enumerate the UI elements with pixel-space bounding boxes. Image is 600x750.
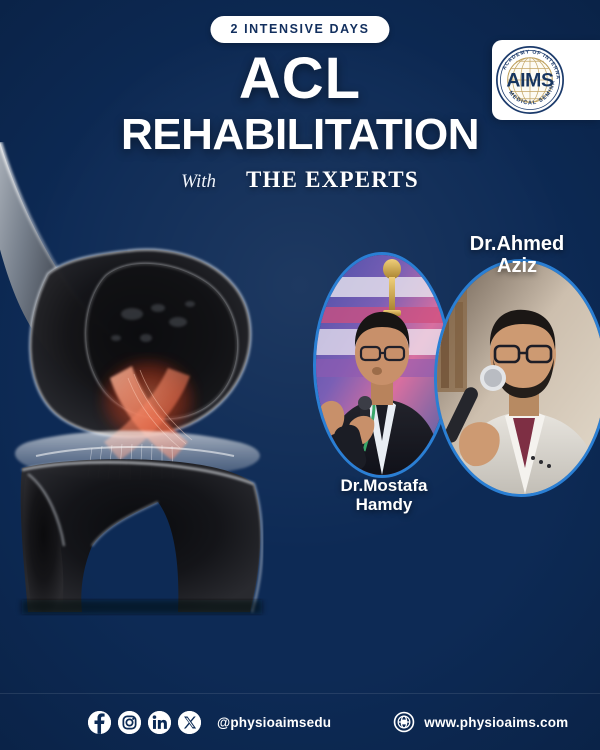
footer-bar: @physioaimsedu www.physioaims.com (0, 693, 600, 750)
social-links: @physioaimsedu (88, 711, 331, 734)
x-icon[interactable] (178, 711, 201, 734)
website-url[interactable]: www.physioaims.com (424, 715, 568, 730)
acl-rehabilitation-poster: 2 INTENSIVE DAYS ACL REHABILITATION With… (0, 0, 600, 750)
linkedin-icon[interactable] (148, 711, 171, 734)
speaker-photo-mostafa (316, 255, 448, 475)
speaker-name-ahmed-line2: Aziz (437, 255, 597, 277)
with-experts-row: With THE EXPERTS (0, 167, 600, 193)
speaker-name-mostafa-line2: Hamdy (318, 495, 450, 514)
with-label: With (181, 171, 216, 193)
speaker-portrait-mostafa (316, 255, 448, 475)
social-handle[interactable]: @physioaimsedu (217, 715, 331, 730)
aims-logo-icon: ACADEMY OF INTERNATIONAL MEDICAL SEMINAR… (494, 44, 566, 116)
instagram-icon[interactable] (118, 711, 141, 734)
website-link[interactable]: www.physioaims.com (393, 711, 568, 733)
facebook-icon[interactable] (88, 711, 111, 734)
speaker-name-ahmed: Dr.Ahmed Aziz (437, 233, 597, 278)
logo-wordmark: AIMS (506, 69, 554, 91)
speaker-name-mostafa-line1: Dr.Mostafa (318, 476, 450, 495)
speaker-name-ahmed-line1: Dr.Ahmed (437, 233, 597, 255)
knee-xray-illustration (0, 142, 312, 642)
intensive-days-badge: 2 INTENSIVE DAYS (210, 16, 389, 43)
globe-icon (393, 711, 415, 733)
speaker-portrait-ahmed (437, 262, 600, 494)
speaker-photo-ahmed (437, 262, 600, 494)
speaker-name-mostafa: Dr.Mostafa Hamdy (318, 476, 450, 514)
the-experts-label: THE EXPERTS (246, 167, 419, 193)
